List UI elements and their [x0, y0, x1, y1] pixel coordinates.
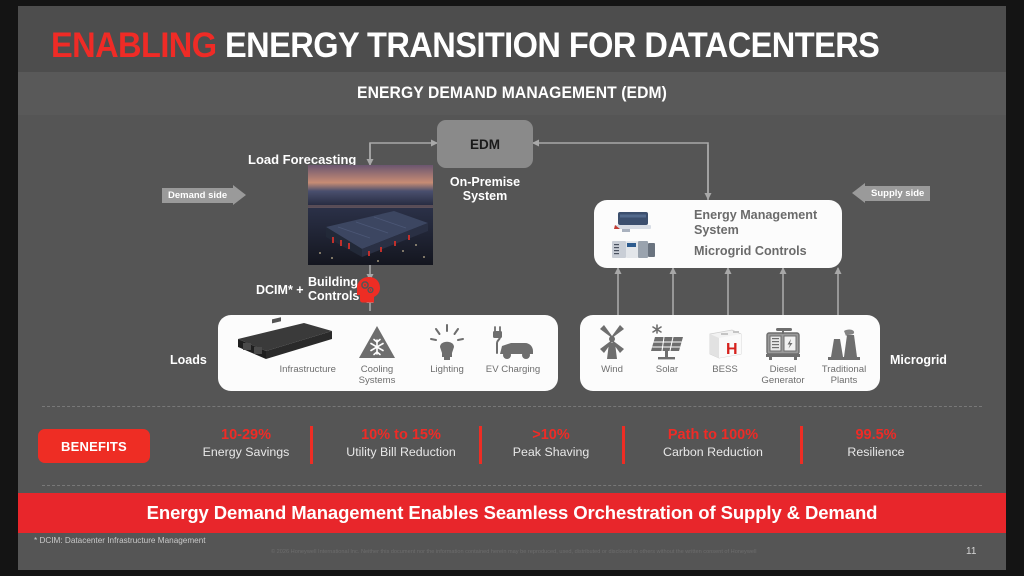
- edm-caption-line1: On-Premise: [437, 175, 533, 189]
- demand-side-label: Demand side: [162, 188, 233, 203]
- solar-panel-icon: [638, 321, 696, 361]
- caption-line1: BESS: [696, 364, 754, 375]
- benefit-separator-3: [800, 426, 803, 464]
- energy-management-card[interactable]: Energy Management System Microgrid Contr…: [594, 200, 842, 268]
- benefit-item-1: 10% to 15% Utility Bill Reduction: [318, 427, 484, 460]
- page-title-highlight: ENABLING: [51, 26, 217, 65]
- datacenter-rack-icon: [222, 321, 342, 361]
- caption-line1: Infrastructure: [222, 364, 336, 375]
- benefit-caption: Utility Bill Reduction: [318, 444, 484, 460]
- summary-banner: Energy Demand Management Enables Seamles…: [18, 493, 1006, 533]
- ems-label-line1: Energy Management: [694, 208, 817, 223]
- datacenter-photo-art: [308, 165, 433, 265]
- benefit-item-3: Path to 100% Carbon Reduction: [630, 427, 796, 460]
- benefit-separator-0: [310, 426, 313, 464]
- loads-caption-cooling: Cooling Systems: [344, 364, 410, 386]
- loads-caption-ev: EV Charging: [480, 364, 546, 375]
- microgrid-item-solar[interactable]: Solar: [638, 321, 696, 375]
- benefit-caption: Resilience: [808, 444, 944, 460]
- ai-brain-head-icon: [352, 275, 382, 305]
- ems-label-line2: System: [694, 223, 817, 238]
- loads-item-lighting[interactable]: Lighting: [414, 321, 480, 375]
- power-plant-icon: [812, 321, 876, 361]
- benefits-divider-bottom: [42, 485, 982, 486]
- edm-box-label: EDM: [470, 137, 500, 152]
- benefit-caption: Energy Savings: [168, 444, 324, 460]
- loads-card[interactable]: Infrastructure: [218, 315, 558, 391]
- page-subtitle: ENERGY DEMAND MANAGEMENT (EDM): [43, 84, 982, 103]
- benefit-value: 99.5%: [808, 427, 944, 444]
- datacenter-photo: [308, 165, 433, 265]
- chiller-icon: [612, 209, 656, 235]
- microgrid-caption-solar: Solar: [638, 364, 696, 375]
- microgrid-item-wind[interactable]: Wind: [584, 321, 640, 375]
- caption-line1: Traditional: [812, 364, 876, 375]
- page-title: ENABLING ENERGY TRANSITION FOR DATACENTE…: [51, 26, 879, 66]
- benefit-caption: Carbon Reduction: [630, 444, 796, 460]
- caption-line2: Generator: [752, 375, 814, 386]
- edm-caption-line2: System: [437, 189, 533, 203]
- microgrid-item-bess[interactable]: H BESS: [696, 321, 754, 375]
- supply-side-arrow: Supply side: [852, 183, 930, 203]
- benefit-caption: Peak Shaving: [486, 444, 616, 460]
- slide-root: ENABLING ENERGY TRANSITION FOR DATACENTE…: [18, 6, 1006, 570]
- supply-side-label: Supply side: [865, 186, 930, 201]
- microgrid-card[interactable]: Wind: [580, 315, 880, 391]
- svg-text:H: H: [726, 341, 738, 358]
- caption-line1: Solar: [638, 364, 696, 375]
- ev-charging-icon: [480, 321, 546, 361]
- benefits-divider-top: [42, 406, 982, 407]
- footnote: * DCIM: Datacenter Infrastructure Manage…: [34, 536, 206, 545]
- controller-icon: [610, 238, 658, 260]
- microgrid-caption-diesel: Diesel Generator: [752, 364, 814, 386]
- caption-line1: Wind: [584, 364, 640, 375]
- dcim-label-part1: DCIM* +: [256, 283, 304, 297]
- benefit-value: 10% to 15%: [318, 427, 484, 444]
- loads-item-ev-charging[interactable]: EV Charging: [480, 321, 546, 375]
- benefit-value: 10-29%: [168, 427, 324, 444]
- copyright-text: © 2026 Honeywell International Inc. Neit…: [271, 549, 756, 555]
- benefits-pill: BENEFITS: [38, 429, 150, 463]
- microgrid-controls-label: Microgrid Controls: [694, 244, 807, 258]
- caption-line1: EV Charging: [480, 364, 546, 375]
- page-number: 11: [966, 546, 976, 557]
- loads-item-cooling[interactable]: Cooling Systems: [344, 321, 410, 386]
- edm-box[interactable]: EDM: [437, 120, 533, 168]
- snowflake-cooling-icon: [344, 321, 410, 361]
- diesel-generator-icon: [752, 321, 814, 361]
- caption-line1: Cooling: [344, 364, 410, 375]
- loads-item-infrastructure[interactable]: Infrastructure: [222, 321, 342, 375]
- microgrid-item-diesel-generator[interactable]: Diesel Generator: [752, 321, 814, 386]
- caption-line2: Systems: [344, 375, 410, 386]
- page-title-rest: ENERGY TRANSITION FOR DATACENTERS: [225, 26, 879, 65]
- lightbulb-icon: [414, 321, 480, 361]
- benefit-item-2: >10% Peak Shaving: [486, 427, 616, 460]
- edm-caption: On-Premise System: [437, 175, 533, 203]
- microgrid-caption-bess: BESS: [696, 364, 754, 375]
- benefit-separator-1: [479, 426, 482, 464]
- summary-banner-text: Energy Demand Management Enables Seamles…: [147, 502, 878, 524]
- benefit-separator-2: [622, 426, 625, 464]
- battery-storage-icon: H: [696, 321, 754, 361]
- arrow-right-icon: [233, 185, 246, 205]
- microgrid-caption-wind: Wind: [584, 364, 640, 375]
- loads-label: Loads: [170, 353, 207, 367]
- caption-line1: Diesel: [752, 364, 814, 375]
- benefit-item-4: 99.5% Resilience: [808, 427, 944, 460]
- benefit-value: >10%: [486, 427, 616, 444]
- microgrid-caption-traditional: Traditional Plants: [812, 364, 876, 386]
- caption-line2: Plants: [812, 375, 876, 386]
- benefit-item-0: 10-29% Energy Savings: [168, 427, 324, 460]
- benefits-pill-label: BENEFITS: [61, 439, 127, 454]
- loads-caption-infrastructure: Infrastructure: [222, 364, 342, 375]
- loads-caption-lighting: Lighting: [414, 364, 480, 375]
- microgrid-item-traditional-plants[interactable]: Traditional Plants: [812, 321, 876, 386]
- benefit-value: Path to 100%: [630, 427, 796, 444]
- demand-side-arrow: Demand side: [162, 185, 246, 205]
- wind-turbine-icon: [584, 321, 640, 361]
- arrow-left-icon: [852, 183, 865, 203]
- ems-label: Energy Management System: [694, 208, 817, 238]
- caption-line1: Lighting: [414, 364, 480, 375]
- microgrid-label: Microgrid: [890, 353, 947, 367]
